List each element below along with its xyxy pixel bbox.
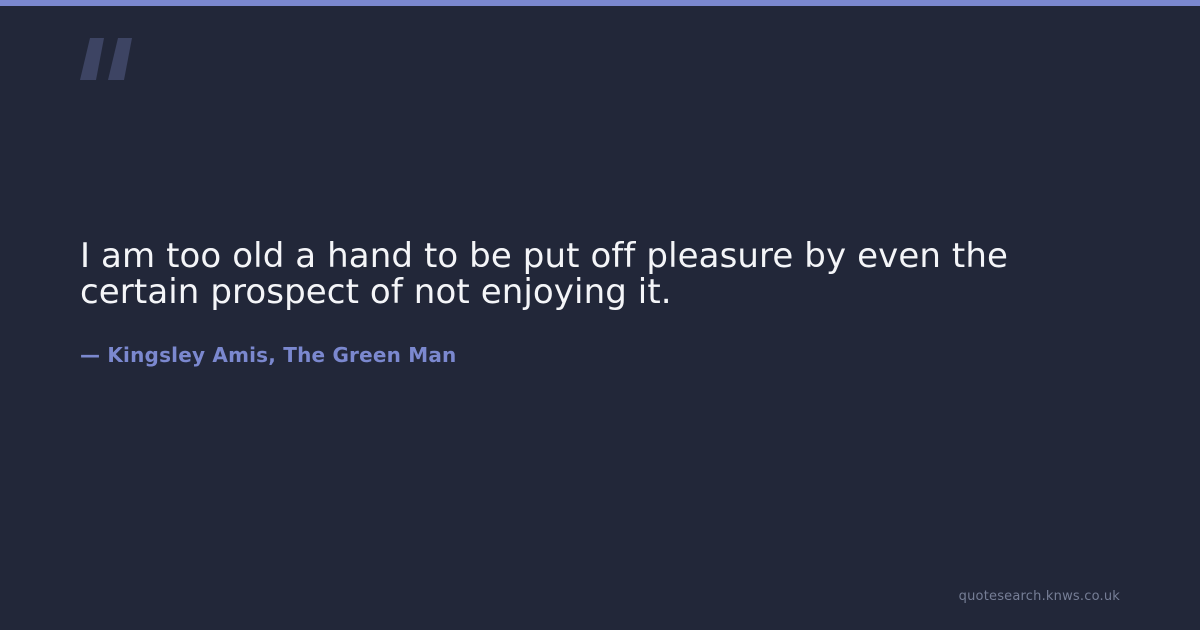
- quote-text: I am too old a hand to be put off pleasu…: [80, 238, 1120, 310]
- quote-attribution: — Kingsley Amis, The Green Man: [80, 310, 1120, 367]
- double-quote-open-icon: [80, 38, 134, 80]
- site-watermark: quotesearch.knws.co.uk: [959, 589, 1120, 605]
- quote-content: I am too old a hand to be put off pleasu…: [80, 238, 1120, 367]
- top-accent-bar: [0, 0, 1200, 6]
- quote-card: I am too old a hand to be put off pleasu…: [0, 0, 1200, 630]
